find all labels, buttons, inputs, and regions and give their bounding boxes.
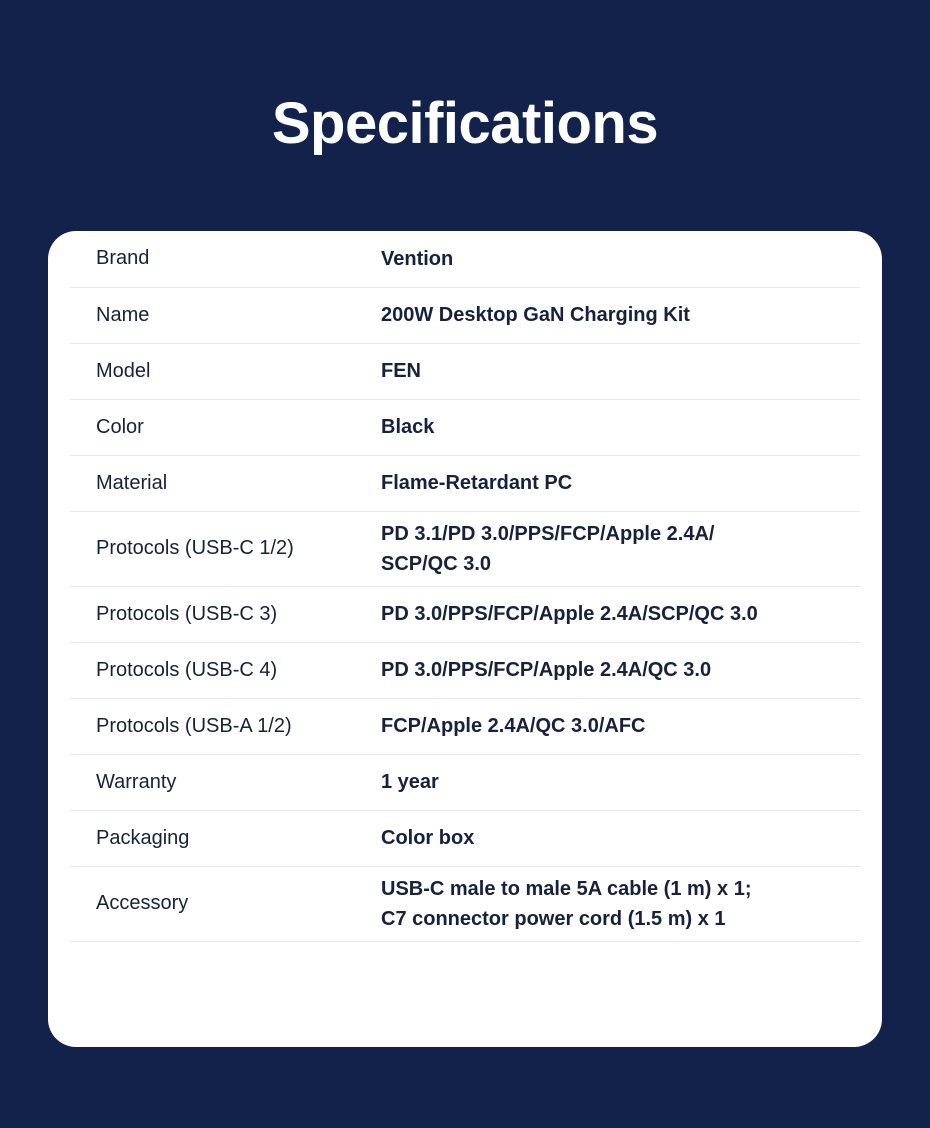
spec-label: Protocols (USB-A 1/2) (70, 698, 381, 754)
spec-label: Accessory (70, 866, 381, 941)
spec-value: Color box (381, 810, 860, 866)
spec-value: Vention (381, 231, 860, 287)
table-row: ColorBlack (70, 399, 860, 455)
page-title: Specifications (0, 95, 930, 153)
spec-label: Protocols (USB-C 4) (70, 642, 381, 698)
spec-value: Black (381, 399, 860, 455)
spec-label: Model (70, 343, 381, 399)
spec-value: PD 3.0/PPS/FCP/Apple 2.4A/SCP/QC 3.0 (381, 586, 860, 642)
spec-label: Name (70, 287, 381, 343)
spec-value: PD 3.0/PPS/FCP/Apple 2.4A/QC 3.0 (381, 642, 860, 698)
spec-value: FCP/Apple 2.4A/QC 3.0/AFC (381, 698, 860, 754)
spec-label: Protocols (USB-C 3) (70, 586, 381, 642)
table-row: BrandVention (70, 231, 860, 287)
table-row: Protocols (USB-C 4)PD 3.0/PPS/FCP/Apple … (70, 642, 860, 698)
spec-label: Color (70, 399, 381, 455)
spec-value: 1 year (381, 754, 860, 810)
table-row: Protocols (USB-A 1/2)FCP/Apple 2.4A/QC 3… (70, 698, 860, 754)
table-row: Name200W Desktop GaN Charging Kit (70, 287, 860, 343)
spec-value: 200W Desktop GaN Charging Kit (381, 287, 860, 343)
spec-value: USB-C male to male 5A cable (1 m) x 1; C… (381, 866, 860, 941)
table-row: PackagingColor box (70, 810, 860, 866)
spec-label: Packaging (70, 810, 381, 866)
spec-label: Warranty (70, 754, 381, 810)
specifications-table-body: BrandVentionName200W Desktop GaN Chargin… (70, 231, 860, 941)
table-row: Protocols (USB-C 3)PD 3.0/PPS/FCP/Apple … (70, 586, 860, 642)
spec-label: Brand (70, 231, 381, 287)
table-row: MaterialFlame-Retardant PC (70, 455, 860, 511)
table-row: Protocols (USB-C 1/2)PD 3.1/PD 3.0/PPS/F… (70, 511, 860, 586)
table-row: ModelFEN (70, 343, 860, 399)
spec-value: Flame-Retardant PC (381, 455, 860, 511)
specifications-page: Specifications BrandVentionName200W Desk… (0, 0, 930, 1128)
spec-value: FEN (381, 343, 860, 399)
spec-label: Protocols (USB-C 1/2) (70, 511, 381, 586)
specifications-table: BrandVentionName200W Desktop GaN Chargin… (70, 231, 860, 942)
specifications-card: BrandVentionName200W Desktop GaN Chargin… (48, 231, 882, 1047)
table-row: AccessoryUSB-C male to male 5A cable (1 … (70, 866, 860, 941)
spec-label: Material (70, 455, 381, 511)
spec-value: PD 3.1/PD 3.0/PPS/FCP/Apple 2.4A/ SCP/QC… (381, 511, 860, 586)
table-row: Warranty1 year (70, 754, 860, 810)
